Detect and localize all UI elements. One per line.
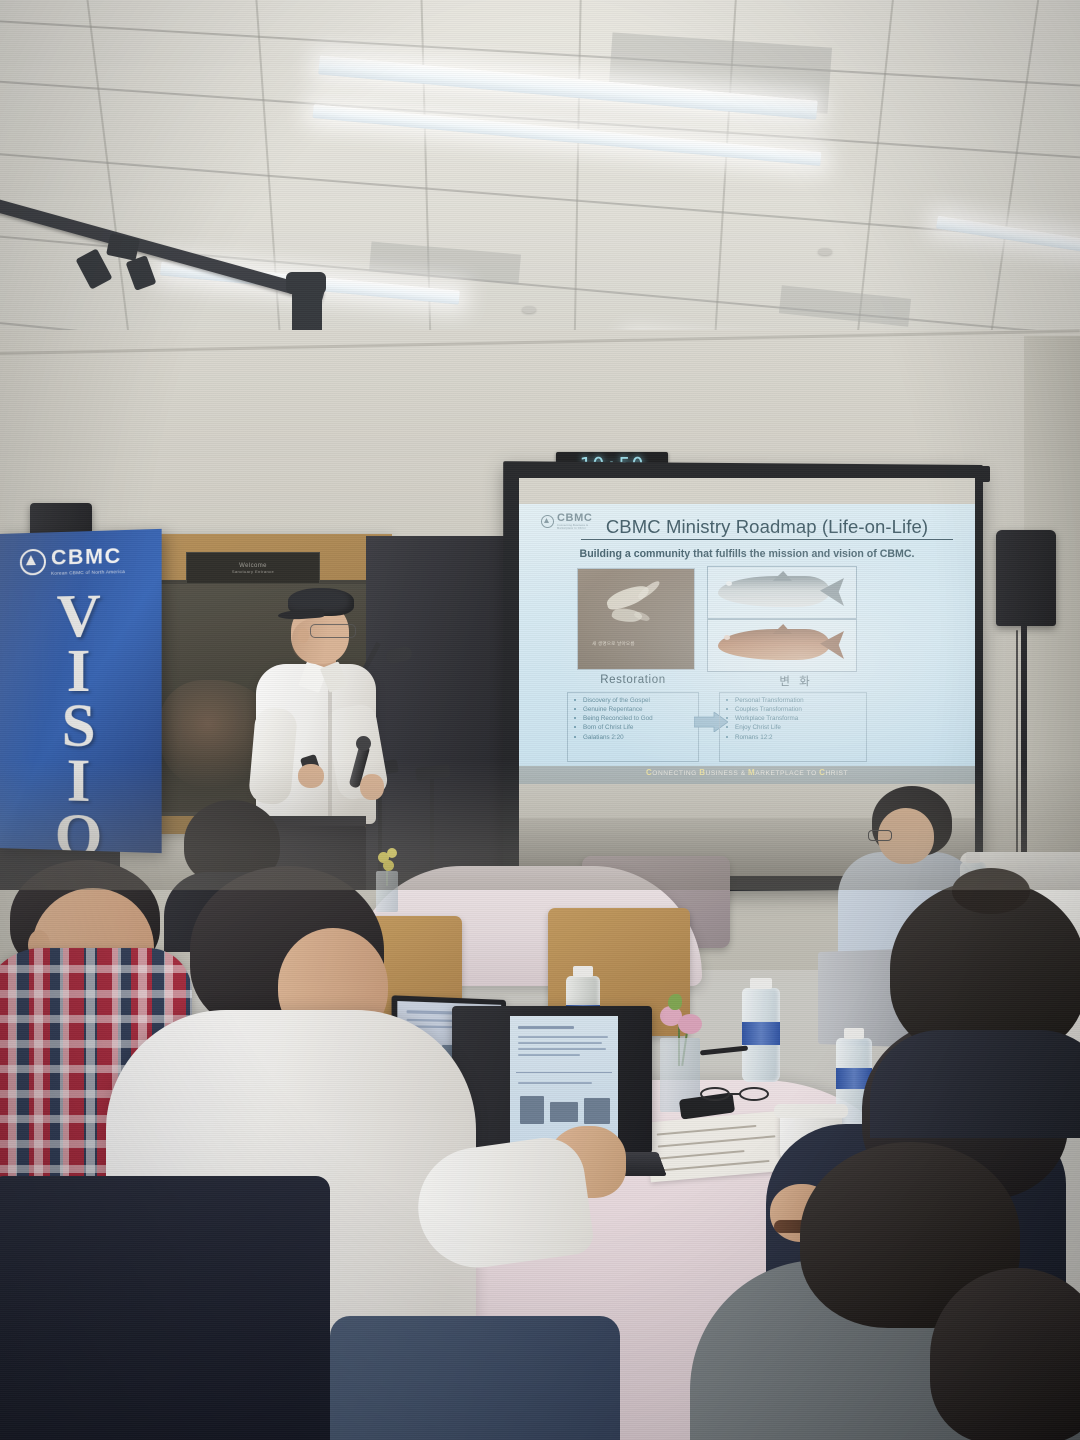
eyeglasses-on-table [700, 1086, 770, 1102]
pa-speaker [996, 530, 1056, 626]
eyeglasses-icon [310, 624, 356, 638]
wall-plaque: Welcome Sanctuary Entrance [186, 552, 320, 584]
attendee-top-bun [880, 880, 1080, 1130]
plaque-line-2: Sanctuary Entrance [232, 570, 274, 574]
chair-back [0, 1176, 330, 1440]
flower-vase [660, 992, 700, 1112]
attendee-jeans [330, 1316, 620, 1440]
laptop-display-slide [510, 1016, 618, 1144]
smoke-detector-icon [818, 248, 832, 255]
drop-ceiling [0, 0, 1080, 372]
ceiling-light-fixture [312, 104, 821, 166]
presentation-slide: CBMC Connecting Business & Marketplace t… [519, 504, 975, 784]
flower [668, 994, 682, 1010]
attendee-hair [930, 1268, 1080, 1440]
pen [700, 1046, 748, 1056]
attendee-torso [870, 1030, 1080, 1138]
stage-par-light [292, 292, 322, 334]
stage-par-light [286, 272, 326, 294]
ambient-shadow [0, 760, 1080, 890]
plaque-line-1: Welcome [239, 563, 267, 569]
projector-glow [519, 504, 975, 784]
speaker-ear [298, 628, 309, 643]
conference-room-photo: Welcome Sanctuary Entrance 10:50 CBMC Co… [0, 0, 1080, 1440]
flower [678, 1014, 702, 1034]
smoke-detector-icon [522, 306, 536, 313]
microphone-head [356, 736, 371, 751]
attendee-bottom-right [930, 1268, 1080, 1440]
